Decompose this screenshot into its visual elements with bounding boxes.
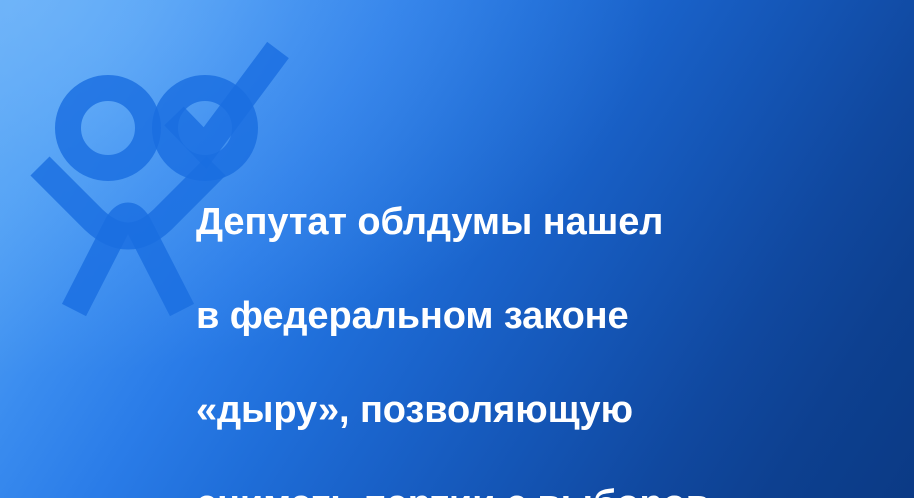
news-headline-card: Депутат облдумы нашел в федеральном зако… [0,0,914,498]
headline: Депутат облдумы нашел в федеральном зако… [196,152,816,498]
headline-line-1: Депутат облдумы нашел [196,199,816,246]
headline-line-3: «дыру», позволяющую [196,387,816,434]
logo-left-ring [68,88,148,168]
headline-line-2: в федеральном законе [196,293,816,340]
headline-line-4: снимать партии с выборов [196,481,816,498]
